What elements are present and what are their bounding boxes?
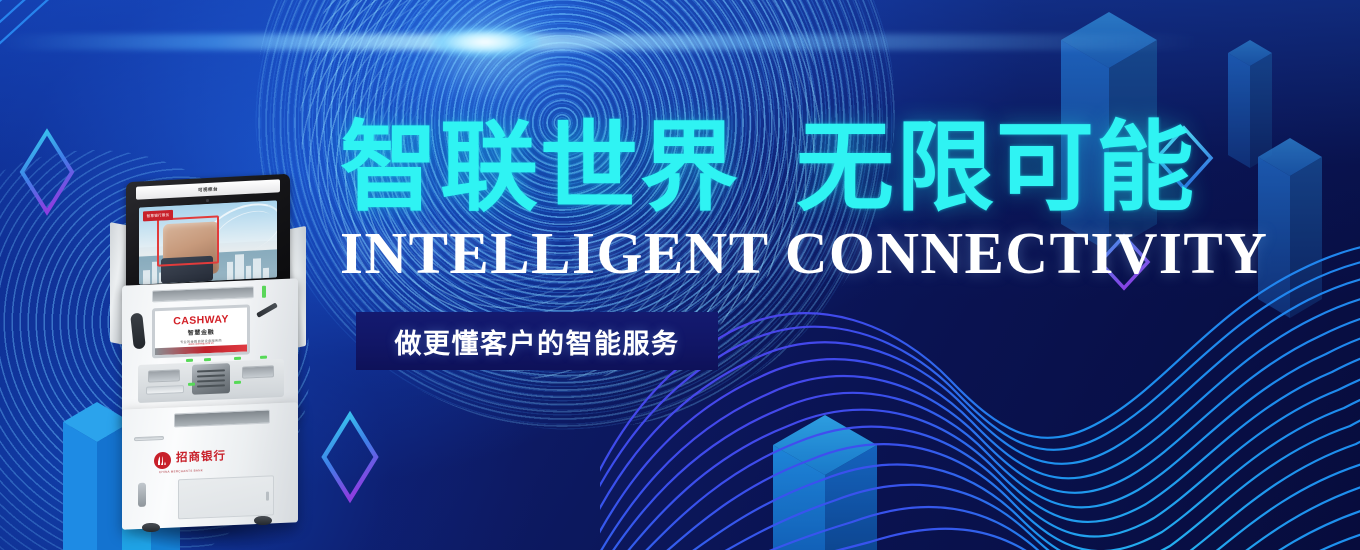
kiosk-service-door <box>178 475 274 519</box>
hero-banner: 可视柜台 <box>0 0 1360 550</box>
flare-core-icon <box>430 26 540 58</box>
headline-chinese: 智联世界无限可能 <box>340 118 1240 216</box>
kiosk-screen-tag: 智慧银行服务 <box>143 210 173 222</box>
kiosk-card-slot-left <box>148 369 180 382</box>
headline-english: INTELLIGENT CONNECTIVITY <box>340 224 1240 283</box>
flare-streak-icon <box>0 34 1200 50</box>
headline-chinese-part-1: 智联世界 <box>340 112 740 222</box>
subtitle-text: 做更懂客户的智能服务 <box>395 322 680 361</box>
kiosk-screen-tag-text: 智慧银行服务 <box>143 210 173 222</box>
kiosk-aux-slot <box>134 436 164 441</box>
kiosk-brand-panel: CASHWAY 智慧金融 专业的金融自助设备服务商 www.cashway.co… <box>152 304 250 358</box>
kiosk-card-slot-right <box>242 365 274 378</box>
bank-logo-subtext: CHINA MERCHANTS BANK <box>159 468 203 474</box>
subtitle-box: 做更懂客户的智能服务 <box>356 312 718 370</box>
kiosk-deposit-slot <box>174 409 270 427</box>
kiosk-base-cabinet: 招商银行 CHINA MERCHANTS BANK <box>122 402 298 529</box>
self-service-kiosk-illustration: 可视柜台 <box>108 178 320 550</box>
kiosk-status-led-icon <box>262 286 266 298</box>
bank-logo-text: 招商银行 <box>176 452 226 466</box>
kiosk-door-handle-icon <box>138 483 146 507</box>
diamond-outline-left-bottom <box>324 415 376 499</box>
kiosk-foot-right <box>254 516 272 525</box>
kiosk-handset-icon <box>130 312 146 349</box>
bank-logo-mark-icon <box>154 451 171 469</box>
bank-logo: 招商银行 <box>154 443 274 472</box>
kiosk-receipt-slot <box>152 286 254 302</box>
kiosk-screen-focus-frame <box>157 215 219 266</box>
contour-waves-bottom-right-icon <box>600 240 1360 550</box>
kiosk-passbook-slot <box>146 385 184 395</box>
headline-block: 智联世界无限可能 INTELLIGENT CONNECTIVITY <box>340 118 1240 283</box>
kiosk-display-screen: 智慧银行服务 <box>139 200 277 284</box>
kiosk-stylus-icon <box>256 302 278 317</box>
kiosk-transaction-tray <box>138 359 284 403</box>
kiosk-foot-left <box>142 523 160 532</box>
headline-chinese-part-2: 无限可能 <box>796 112 1196 222</box>
kiosk-cash-module <box>192 363 230 395</box>
kiosk-top-label-text: 可视柜台 <box>198 186 218 193</box>
